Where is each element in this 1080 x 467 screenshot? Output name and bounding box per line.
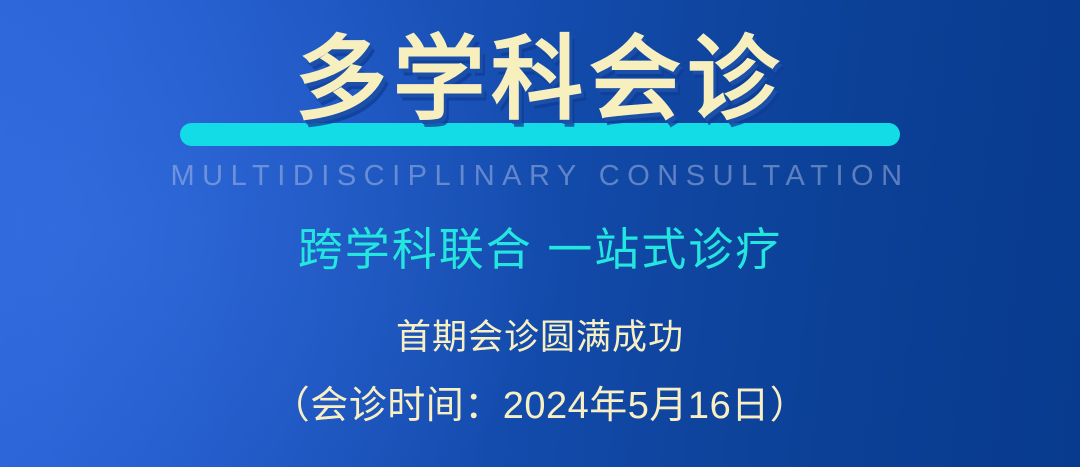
- slogan-text: 跨学科联合 一站式诊疗: [0, 221, 1080, 279]
- page-title: 多学科会诊: [0, 24, 1080, 134]
- english-subtitle: MULTIDISCIPLINARY CONSULTATION: [0, 157, 1080, 195]
- mdt-banner: 多学科会诊 MULTIDISCIPLINARY CONSULTATION 跨学科…: [0, 0, 1080, 467]
- note-line-date: （会诊时间：2024年5月16日）: [0, 381, 1080, 431]
- title-block: 多学科会诊: [0, 24, 1080, 150]
- note-line-success: 首期会诊圆满成功: [0, 315, 1080, 361]
